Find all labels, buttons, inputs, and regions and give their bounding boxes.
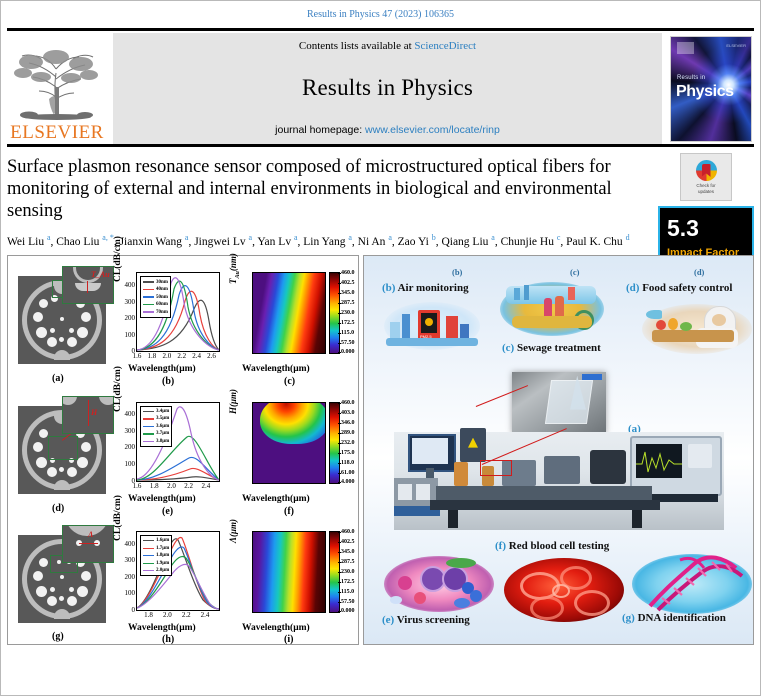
legend-swatch [143, 570, 154, 571]
oscilloscope-trace [636, 444, 682, 478]
xtick-b: 2.0 [162, 352, 171, 360]
inset-label-lambda: Λ [88, 530, 93, 539]
page-title: Surface plasmon resonance sensor compose… [7, 157, 639, 222]
colorbar-tick-c: 57.50 [341, 340, 355, 346]
illustration-air-monitoring: PM2.5 [384, 302, 480, 350]
caption-sewage-treatment: (c) Sewage treatment [502, 342, 601, 354]
illustration-dna [632, 554, 752, 614]
simulation-figure-grid: T_Au (a) CL(dB/cm) 0 100 200 300 400 1.6… [7, 255, 359, 645]
legend-label: 3.4μm [156, 409, 169, 414]
bacteria-shape [446, 558, 476, 568]
axis-label-y-h: CL(dB/cm) [113, 495, 123, 541]
instrument-panel [416, 484, 430, 500]
colorbar-tick-c: 287.5 [341, 300, 355, 306]
legend-swatch [143, 563, 154, 564]
bacteria-shape [454, 598, 470, 608]
axis-label-y-e: CL(dB/cm) [113, 366, 123, 412]
colorbar-tick-f: 118.0 [341, 460, 354, 466]
fiber-bottom-notch [54, 609, 70, 619]
colorbar-tick-i: 287.5 [341, 559, 355, 565]
heatmap-c: TAu(nm) 70 60 50 40 30 1.6 1.8 2.0 2.2 2… [226, 268, 354, 372]
author-name: Yan Lv [257, 236, 294, 248]
cover-journal-name: Physics [676, 83, 734, 101]
legend-item: 1.8μm [143, 552, 169, 560]
panel-caption-h: (h) [162, 634, 174, 645]
building-shape [524, 285, 529, 300]
contents-line: Contents lists available at ScienceDirec… [299, 40, 476, 52]
fiber-cross-section-g: Λ (g) [14, 529, 112, 629]
legend-swatch [143, 418, 154, 419]
author-affiliation-marker: d [626, 233, 630, 242]
food-item [656, 320, 666, 330]
xtick-b: 1.8 [148, 352, 157, 360]
ytick-e: 300 [125, 427, 136, 435]
legend-swatch [143, 426, 154, 427]
heatmap-field-i [253, 532, 325, 612]
heatmap-field-c [253, 273, 325, 353]
cell-shape [390, 596, 402, 604]
optical-table-top [436, 486, 652, 500]
elsevier-wordmark: ELSEVIER [10, 123, 104, 142]
colorbar-tick-i: 402.5 [341, 539, 355, 545]
legend-label: 1.8μm [156, 553, 169, 558]
legend-label: 70nm [156, 310, 168, 315]
colorbar-tick-i: 115.0 [341, 589, 354, 595]
author-name: Chunjie Hu [501, 236, 557, 248]
journal-header-box: Contents lists available at ScienceDirec… [113, 33, 662, 144]
inset-detail-a: T_Au [62, 266, 114, 304]
air-hole [33, 442, 43, 452]
colorbar-tick-f: 289.0 [341, 430, 355, 436]
cover-inset-box [677, 42, 694, 54]
caption-dna-identification: (g) DNA identification [622, 612, 726, 624]
legend-item: 3.6μm [143, 423, 169, 431]
optical-table-edge [430, 500, 660, 510]
caption-key-d: (d) [626, 282, 642, 294]
air-hole [39, 429, 48, 438]
xtick-e: 2.2 [184, 482, 193, 490]
xtick-b: 2.6 [207, 352, 216, 360]
caption-key-f: (f) [495, 540, 509, 552]
impact-factor-value: 5.3 [667, 217, 752, 240]
panel-caption-g: (g) [52, 631, 64, 642]
caption-key-c: (c) [502, 342, 517, 354]
legend-swatch [143, 289, 154, 290]
camera-module [590, 450, 626, 484]
oscilloscope-knobs [688, 444, 712, 468]
air-hole [47, 467, 57, 477]
sand-shape [512, 316, 592, 328]
ytick-b: 100 [125, 331, 136, 339]
top-tag-c: (c) [570, 267, 579, 277]
pm-meter-dial [425, 318, 433, 326]
table-leg [632, 510, 642, 528]
heatmap-frame-c: 70 60 50 40 30 1.6 1.8 2.0 2.2 2.4 2.6 [252, 272, 326, 354]
xtick-h: 2.2 [182, 611, 191, 619]
colorbar-tick-f: 232.0 [341, 440, 355, 446]
legend-swatch [143, 555, 154, 556]
fiber-cross-section-d: H (d) [14, 400, 112, 500]
fiber-bottom-notch [54, 350, 70, 360]
air-hole [33, 571, 43, 581]
blood-cell [574, 590, 610, 616]
panel-caption-d: (d) [52, 503, 64, 514]
xtick-b: 2.4 [192, 352, 201, 360]
legend-label: 40nm [156, 287, 168, 292]
axis-label-x-f: Wavelength(μm) [242, 494, 310, 504]
fiber-sample-holder [545, 380, 593, 424]
legend-item: 3.5μm [143, 415, 169, 423]
colorbar-tick-f: 403.0 [341, 410, 355, 416]
legend-item: 3.7μm [143, 430, 169, 438]
legend-item: 1.9μm [143, 559, 169, 567]
optical-mount [454, 462, 468, 486]
air-hole [81, 571, 91, 581]
air-hole [59, 467, 64, 472]
caption-key-b: (b) [382, 282, 398, 294]
legend-label: 30nm [156, 280, 168, 285]
inset-detail-g: Λ [62, 525, 114, 563]
colorbar-tick-i: 172.5 [341, 579, 355, 585]
top-tag-d: (d) [694, 267, 704, 277]
legend-item: 30nm [143, 278, 168, 286]
top-tag-b: (b) [452, 267, 462, 277]
monitor-display [412, 438, 448, 464]
author-name: Zao Yi [398, 236, 432, 248]
axis-label-x-c: Wavelength(μm) [242, 364, 310, 374]
caption-text-b: Air monitoring [398, 282, 469, 294]
colorbar-tick-i: 230.0 [341, 569, 355, 575]
air-hole [59, 596, 64, 601]
blue-clip [582, 374, 602, 380]
legend-item: 2.0μm [143, 567, 169, 575]
legend-swatch [143, 304, 154, 305]
crossmark-label-line2: updates [696, 189, 715, 195]
ytick-h: 100 [125, 589, 136, 597]
axis-label-x-e: Wavelength(μm) [128, 494, 196, 504]
xtick-e: 2.4 [202, 482, 211, 490]
ytick-e: 400 [125, 410, 136, 418]
ground-shape [386, 338, 478, 346]
colorbar-tick-f: 4.000 [341, 479, 355, 485]
inset-gold-layer [75, 283, 101, 291]
illustration-food-safety [642, 304, 752, 354]
axis-label-y-f: H(μm) [228, 389, 238, 414]
legend-swatch [143, 540, 154, 541]
line-plot-h: CL(dB/cm) 0 100 200 300 400 1.8 2.0 2.2 … [114, 527, 222, 631]
crossmark-label: Check for updates [696, 183, 715, 194]
figure-row-3: Λ (g) CL(dB/cm) 0 100 200 300 400 1.8 2.… [8, 514, 358, 643]
building-shape [568, 287, 575, 300]
illustration-red-blood-cells [504, 558, 624, 622]
ytick-b: 200 [125, 314, 136, 322]
plot-frame-h: 0 100 200 300 400 1.8 2.0 2.2 2.4 [136, 531, 220, 611]
author-name: Jianxin Wang [120, 236, 185, 248]
figure-row-1: T_Au (a) CL(dB/cm) 0 100 200 300 400 1.6… [8, 256, 358, 385]
homepage-link[interactable]: www.elsevier.com/locate/rinp [365, 124, 500, 136]
legend-e: 3.4μm 3.5μm 3.6μm 3.7μm 3.8μm [140, 406, 172, 448]
air-hole [39, 558, 48, 567]
inset-label-h: H [91, 408, 97, 417]
legend-swatch [143, 296, 154, 297]
chef-face [712, 314, 726, 326]
xtick-b: 1.6 [133, 352, 142, 360]
legend-item: 1.7μm [143, 544, 169, 552]
xtick-h: 1.8 [144, 611, 153, 619]
axis-label-y-c: TAu(nm) [228, 253, 241, 284]
line-plot-e: CL(dB/cm) 0 100 200 300 400 1.6 1.8 2.0 … [114, 398, 222, 502]
badge-column: Check for updates 5.3 Impact Factor [658, 153, 754, 269]
caption-virus-screening: (e) Virus screening [382, 614, 470, 626]
contents-prefix: Contents lists available at [299, 40, 414, 52]
legend-item: 70nm [143, 308, 168, 316]
legend-swatch [143, 281, 154, 282]
journal-masthead: ELSEVIER Contents lists available at Sci… [1, 31, 760, 144]
colorbar-tick-f: 175.0 [341, 450, 355, 456]
legend-label: 1.6μm [156, 538, 169, 543]
inset-dimension-arrow [87, 281, 88, 293]
author-list: Wei Liu a, Chao Liu a, *, Jianxin Wang a… [7, 232, 647, 250]
legend-swatch [143, 433, 154, 434]
ytick-h: 400 [125, 540, 136, 548]
legend-item: 40nm [143, 286, 168, 294]
cover-image: ELSEVIER Results in Physics [670, 36, 752, 142]
colorbar-tick-c: 460.0 [341, 270, 355, 276]
air-hole [36, 586, 47, 597]
plot-frame-e: 0 100 200 300 400 1.6 1.8 2.0 2.2 2.4 [136, 402, 220, 482]
illustration-sewage-treatment [500, 282, 604, 336]
author-name: Wei Liu [7, 236, 47, 248]
legend-label: 3.5μm [156, 416, 169, 421]
legend-label: 50nm [156, 295, 168, 300]
axis-label-x-b: Wavelength(μm) [128, 364, 196, 374]
application-overview-figure: (b) (c) (d) (b) Air monitoring PM2.5 [363, 255, 754, 645]
crossmark-label-line1: Check for [696, 183, 715, 189]
line-plot-b: CL(dB/cm) 0 100 200 300 400 1.6 1.8 2.0 … [114, 268, 222, 372]
instrument-panel [398, 484, 412, 500]
xtick-e: 1.6 [133, 482, 142, 490]
cover-kicker: Results in [677, 75, 705, 81]
blood-cell [530, 596, 564, 620]
air-hole [50, 587, 55, 592]
heatmap-i: Λ(μm) 2.0 1.9 1.8 1.7 1.6 1.6 1.8 2.0 2.… [226, 527, 354, 631]
cutting-board [652, 330, 734, 342]
legend-swatch [143, 311, 154, 312]
fiber-photo-inset [512, 372, 606, 434]
axis-label-y-i: Λ(μm) [228, 519, 238, 543]
crossmark-icon [696, 160, 717, 181]
plot-frame-b: 0 100 200 300 400 1.6 1.8 2.0 2.2 2.4 2.… [136, 272, 220, 352]
colorbar-tick-c: 172.5 [341, 320, 355, 326]
crossmark-check-for-updates-button[interactable]: Check for updates [680, 153, 732, 201]
inset-pitch-line [79, 543, 98, 544]
colorbar-tick-f: 61.00 [341, 470, 355, 476]
elsevier-logo: ELSEVIER [7, 33, 107, 144]
author-name: Qiang Liu [441, 236, 491, 248]
caption-red-blood-cell: (f) Red blood cell testing [495, 540, 609, 552]
legend-label: 60nm [156, 302, 168, 307]
legend-swatch [143, 411, 154, 412]
heatmap-hotspot-f [260, 402, 326, 445]
axis-label-x-h: Wavelength(μm) [128, 623, 196, 633]
colorbar-tick-f: 346.0 [341, 420, 355, 426]
heatmap-f: H(μm) 3.8 3.7 3.6 3.5 3.4 1.8 2.0 2.2 2.… [226, 398, 354, 502]
colorbar-tick-c: 345.0 [341, 290, 355, 296]
colorbar-tick-f: 460.0 [341, 400, 355, 406]
virus-particle [398, 576, 412, 590]
virus-particle [414, 592, 426, 604]
caption-key-g: (g) [622, 612, 638, 624]
running-head: Results in Physics 47 (2023) 106365 [1, 1, 760, 28]
author-name: Chao Liu [56, 236, 102, 248]
author-name: Lin Yang [303, 236, 348, 248]
legend-swatch [143, 548, 154, 549]
legend-label: 3.8μm [156, 439, 169, 444]
ytick-e: 100 [125, 460, 136, 468]
inset-left-curve [62, 396, 77, 405]
ytick-e: 200 [125, 443, 136, 451]
legend-item: 50nm [143, 293, 168, 301]
cover-publisher-tag: ELSEVIER [726, 43, 746, 48]
inset-detail-d: H [62, 396, 114, 434]
colorbar-tick-c: 230.0 [341, 310, 355, 316]
air-hole [60, 575, 64, 579]
journal-cover-thumbnail[interactable]: ELSEVIER Results in Physics [668, 33, 754, 144]
colorbar-tick-i: 345.0 [341, 549, 355, 555]
caption-key-e: (e) [382, 614, 397, 626]
table-leg [448, 510, 458, 528]
legend-item: 1.6μm [143, 537, 169, 545]
legend-b: 30nm 40nm 50nm 60nm 70nm [140, 276, 171, 318]
axis-label-x-i: Wavelength(μm) [242, 623, 310, 633]
panel-caption-i: (i) [284, 634, 293, 645]
colorbar-tick-i: 57.50 [341, 599, 355, 605]
xtick-b: 2.2 [177, 352, 186, 360]
air-hole [36, 457, 47, 468]
elsevier-tree-icon [11, 47, 103, 123]
air-hole [47, 596, 57, 606]
bacteria-shape [470, 590, 482, 602]
air-hole [67, 467, 77, 477]
illustration-virus-screening [384, 556, 494, 612]
figure-row-2: H (d) CL(dB/cm) 0 100 200 300 400 1.6 1.… [8, 385, 358, 514]
colorbar-tick-i: 460.0 [341, 529, 355, 535]
heatmap-frame-f: 3.8 3.7 3.6 3.5 3.4 1.8 2.0 2.2 2.4 [252, 402, 326, 484]
legend-label: 2.0μm [156, 568, 169, 573]
sciencedirect-link[interactable]: ScienceDirect [414, 40, 476, 52]
homepage-prefix: journal homepage: [275, 124, 365, 136]
inset-top-curve [65, 525, 109, 536]
optical-stage [544, 456, 580, 484]
laboratory-setup-photo [394, 432, 724, 530]
dna-helix-icon [632, 554, 752, 614]
journal-homepage-line: journal homepage: www.elsevier.com/locat… [275, 124, 500, 136]
air-hole [77, 457, 88, 468]
ytick-h: 300 [125, 556, 136, 564]
monitor-stand [426, 468, 434, 478]
xtick-h: 2.0 [163, 611, 172, 619]
ytick-b: 300 [125, 298, 136, 306]
legend-item: 60nm [143, 301, 168, 309]
caption-text-d: Food safety control [642, 282, 732, 294]
food-item [668, 318, 678, 330]
inset-right-curve [99, 396, 114, 405]
blood-cell [552, 584, 570, 598]
caption-text-e: Virus screening [397, 614, 470, 626]
legend-item: 3.8μm [143, 438, 169, 446]
colorbar-tick-c: 0.000 [341, 349, 355, 355]
fiber-cross-section-a: T_Au (a) [14, 270, 112, 370]
caption-text-g: DNA identification [638, 612, 726, 624]
colorbar-tick-c: 115.0 [341, 330, 354, 336]
food-item [680, 322, 692, 331]
building-shape [514, 288, 520, 300]
legend-swatch [143, 441, 154, 442]
inset-label-t-au: T_Au [91, 270, 110, 279]
fish-item [646, 310, 662, 319]
inset-dimension-arrow [88, 400, 89, 426]
ytick-h: 0 [132, 606, 136, 614]
article-first-page: Results in Physics 47 (2023) 106365 [0, 0, 761, 696]
legend-h: 1.6μm 1.7μm 1.8μm 1.9μm 2.0μm [140, 535, 172, 577]
graphical-abstract: T_Au (a) CL(dB/cm) 0 100 200 300 400 1.6… [1, 255, 760, 651]
ytick-h: 200 [125, 573, 136, 581]
caption-air-monitoring: (b) Air monitoring [382, 282, 469, 294]
colorbar-tick-i: 0.000 [341, 608, 355, 614]
air-hole [77, 586, 88, 597]
legend-label: 3.7μm [156, 431, 169, 436]
air-hole [69, 587, 74, 592]
legend-item: 3.4μm [143, 408, 169, 416]
author-name: Ni An [358, 236, 389, 248]
legend-label: 1.7μm [156, 546, 169, 551]
caption-food-safety: (d) Food safety control [626, 282, 732, 294]
caption-text-c: Sewage treatment [517, 342, 601, 354]
author-name: Jingwei Lv [194, 236, 248, 248]
xtick-e: 2.0 [167, 482, 176, 490]
caption-text-f: Red blood cell testing [509, 540, 610, 552]
legend-label: 3.6μm [156, 424, 169, 429]
legend-label: 1.9μm [156, 561, 169, 566]
air-hole [67, 596, 77, 606]
heatmap-frame-i: 2.0 1.9 1.8 1.7 1.6 1.6 1.8 2.0 2.2 2.4 … [252, 531, 326, 613]
ytick-b: 400 [125, 281, 136, 289]
air-hole [81, 442, 91, 452]
panel-caption-a: (a) [52, 373, 64, 384]
author-name: Paul K. Chu [566, 236, 625, 248]
colorbar-tick-c: 402.5 [341, 280, 355, 286]
xtick-h: 2.4 [201, 611, 210, 619]
xtick-e: 1.8 [150, 482, 159, 490]
journal-title: Results in Physics [302, 75, 473, 101]
axis-label-y-b: CL(dB/cm) [113, 236, 123, 282]
